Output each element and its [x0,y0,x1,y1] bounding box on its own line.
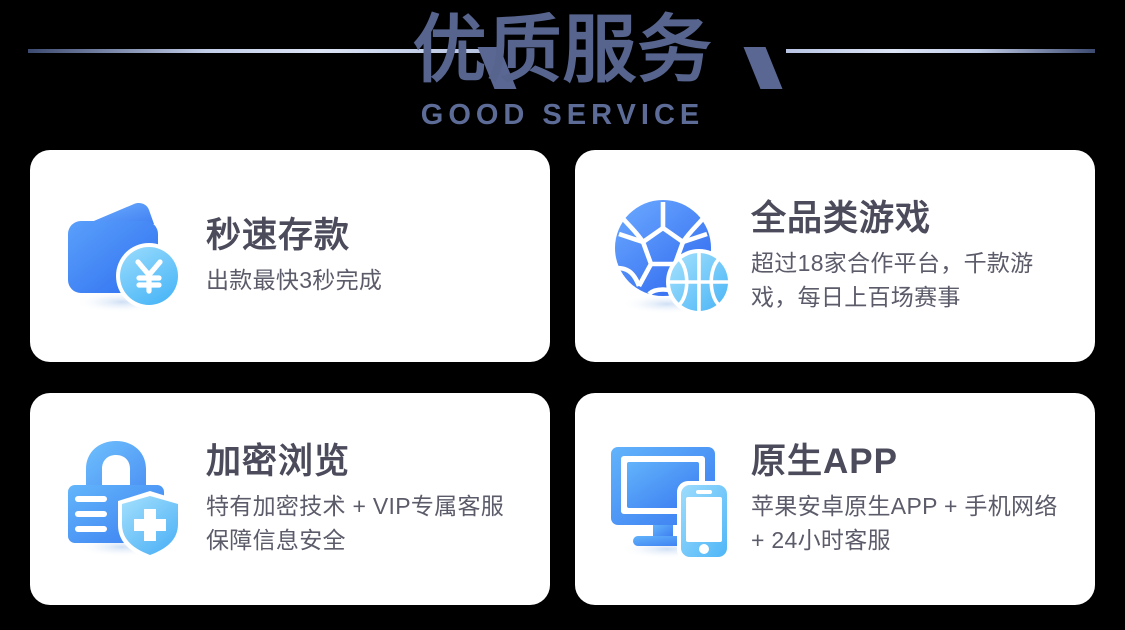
card-description: 超过18家合作平台，千款游戏，每日上百场赛事 [751,246,1069,314]
feature-card-deposit[interactable]: 秒速存款 出款最快3秒完成 [30,150,550,362]
page-subtitle: GOOD SERVICE [0,99,1125,131]
card-text-block: 原生APP 苹果安卓原生APP + 手机网络 + 24小时客服 [751,441,1069,557]
service-banner: 优质服务 GOOD SERVICE [0,0,1125,630]
feature-card-games[interactable]: 全品类游戏 超过18家合作平台，千款游戏，每日上百场赛事 [575,150,1095,362]
feature-card-encryption[interactable]: 加密浏览 特有加密技术 + VIP专属客服保障信息安全 [30,393,550,605]
card-description: 特有加密技术 + VIP专属客服保障信息安全 [206,489,524,557]
lock-shield-icon [60,433,192,565]
feature-card-grid: 秒速存款 出款最快3秒完成 [30,150,1095,605]
card-text-block: 秒速存款 出款最快3秒完成 [206,215,524,297]
monitor-phone-icon [605,433,737,565]
card-description: 苹果安卓原生APP + 手机网络 + 24小时客服 [751,489,1069,557]
card-text-block: 全品类游戏 超过18家合作平台，千款游戏，每日上百场赛事 [751,198,1069,314]
card-description: 出款最快3秒完成 [206,263,524,297]
card-title: 秒速存款 [206,215,524,257]
banner-header: 优质服务 GOOD SERVICE [0,0,1125,145]
card-text-block: 加密浏览 特有加密技术 + VIP专属客服保障信息安全 [206,441,524,557]
soccer-basketball-icon [605,190,737,322]
feature-card-native-app[interactable]: 原生APP 苹果安卓原生APP + 手机网络 + 24小时客服 [575,393,1095,605]
card-title: 加密浏览 [206,441,524,483]
card-title: 原生APP [751,441,1069,483]
page-title: 优质服务 [0,8,1125,92]
wallet-yen-icon [60,190,192,322]
card-title: 全品类游戏 [751,198,1069,240]
